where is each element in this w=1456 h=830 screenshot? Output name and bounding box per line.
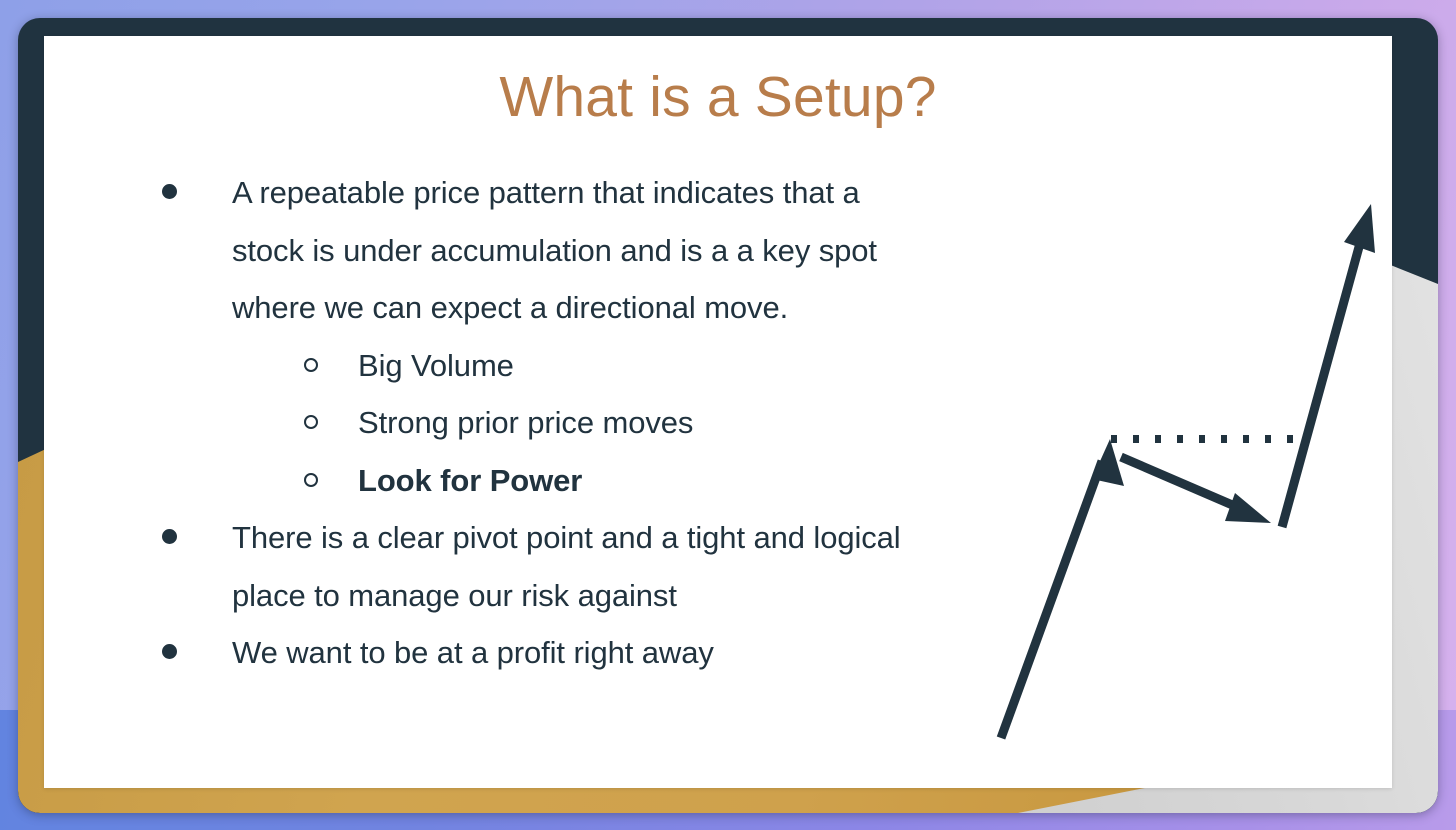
pullback-arrow-icon [1121, 457, 1271, 523]
list-item: Big Volume [100, 337, 930, 395]
bullet-list-container: A repeatable price pattern that indicate… [100, 164, 930, 682]
hollow-circle-icon [304, 358, 318, 372]
slide-content-card: What is a Setup? A repeatable price patt… [44, 36, 1392, 788]
slide-frame: What is a Setup? A repeatable price patt… [18, 18, 1438, 813]
list-item: There is a clear pivot point and a tight… [100, 509, 930, 624]
filled-disc-icon [162, 184, 177, 199]
list-item-label: A repeatable price pattern that indicate… [232, 175, 877, 325]
list-item-label: Big Volume [358, 348, 514, 383]
list-item: A repeatable price pattern that indicate… [100, 164, 930, 337]
hollow-circle-icon [304, 473, 318, 487]
list-item: Strong prior price moves [100, 394, 930, 452]
bullet-list-level2: Big Volume Strong prior price moves Look… [100, 337, 930, 510]
price-setup-chart-svg [944, 156, 1404, 776]
page-title: What is a Setup? [44, 64, 1392, 130]
list-item: Look for Power [100, 452, 930, 510]
breakout-arrow-icon [1282, 204, 1375, 527]
list-item-label: There is a clear pivot point and a tight… [232, 520, 901, 613]
filled-disc-icon [162, 644, 177, 659]
list-item-label: Look for Power [358, 463, 582, 498]
price-setup-chart [944, 156, 1404, 776]
rally-arrow-icon [1001, 439, 1124, 738]
sublist-wrapper: Big Volume Strong prior price moves Look… [100, 337, 930, 510]
bullet-list-level1: A repeatable price pattern that indicate… [100, 164, 930, 682]
filled-disc-icon [162, 529, 177, 544]
list-item-label: Strong prior price moves [358, 405, 693, 440]
list-item: We want to be at a profit right away [100, 624, 930, 682]
hollow-circle-icon [304, 415, 318, 429]
list-item-label: We want to be at a profit right away [232, 635, 714, 670]
